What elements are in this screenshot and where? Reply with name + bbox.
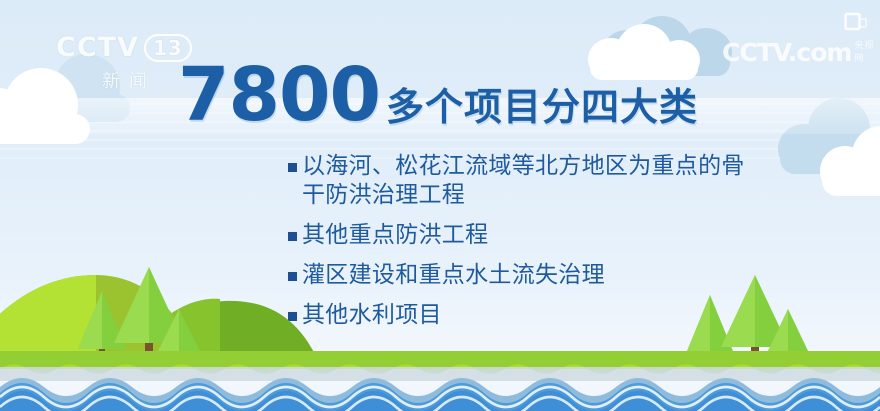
wave-crest-line — [0, 387, 880, 407]
cctv-wordmark: CCTV — [56, 32, 139, 63]
watermark-main-text: CCTV.com — [722, 38, 851, 67]
wave-band-front — [0, 391, 880, 411]
list-item-label: 灌区建设和重点水土流失治理 — [302, 261, 605, 290]
watermark-sub-text: 央视网 — [854, 38, 880, 67]
list-item: 其他水利项目 — [288, 301, 758, 330]
wave-crest-line — [0, 397, 880, 411]
headline-rest-text: 多个项目分四大类 — [386, 88, 698, 126]
tree-trunk — [145, 327, 153, 359]
list-item-label: 以海河、松花江流域等北方地区为重点的骨干防洪治理工程 — [302, 152, 758, 210]
square-bullet-icon — [288, 312, 297, 321]
shore-haze-band — [0, 367, 880, 381]
hill-back-dark-light-face — [128, 299, 220, 361]
cloud-shadow-right-icon — [778, 96, 880, 174]
tree-foliage — [158, 309, 200, 351]
tree-trunk — [176, 347, 182, 365]
cctv13-channel-logo: CCTV 13 新闻 — [56, 32, 196, 94]
list-item: 其他重点防洪工程 — [288, 221, 758, 250]
list-item: 灌区建设和重点水土流失治理 — [288, 261, 758, 290]
list-item-label: 其他水利项目 — [302, 301, 442, 330]
rounded-square-icon — [844, 11, 868, 33]
tree-foliage — [114, 267, 184, 343]
tree-trunk — [99, 343, 105, 363]
cloud-left-icon — [0, 58, 116, 132]
tree-foliage — [78, 291, 126, 349]
list-item: 以海河、松花江流域等北方地区为重点的骨干防洪治理工程 — [288, 152, 758, 210]
cctv-com-watermark: CCTV.com 央视网 — [722, 38, 880, 67]
grass-shoreline — [0, 351, 880, 374]
square-bullet-icon — [288, 163, 297, 172]
tree-foliage-lit — [78, 291, 102, 349]
square-bullet-icon — [288, 232, 297, 241]
grass-strip — [0, 351, 880, 369]
wave-band-mid — [0, 383, 880, 411]
hill-left-shaded — [0, 275, 196, 361]
hill-left-lit — [0, 275, 96, 361]
tree-foliage — [767, 309, 809, 353]
bullet-list: 以海河、松花江流域等北方地区为重点的骨干防洪治理工程 其他重点防洪工程 灌区建设… — [288, 152, 758, 341]
channel-subtitle: 新闻 — [56, 67, 196, 93]
cloud-shadow-left-icon — [14, 48, 164, 120]
list-item-label: 其他重点防洪工程 — [302, 221, 488, 250]
tree-foliage-lit — [114, 267, 149, 343]
headline: 7800 多个项目分四大类 — [178, 58, 698, 132]
tree-trunk — [785, 347, 791, 365]
tree-foliage-lit — [767, 309, 788, 353]
wave-band-distant — [0, 378, 880, 411]
tree-foliage-lit — [158, 309, 179, 351]
channel-logo-row: CCTV 13 — [56, 32, 196, 63]
cloud-right-icon — [820, 124, 880, 196]
headline-number: 7800 — [178, 58, 380, 132]
tree-trunk — [707, 343, 713, 363]
square-bullet-icon — [288, 272, 297, 281]
broadcast-graphic-screen: CCTV 13 新闻 CCTV.com 央视网 7800 多个项目分四大类 以海… — [0, 0, 880, 411]
